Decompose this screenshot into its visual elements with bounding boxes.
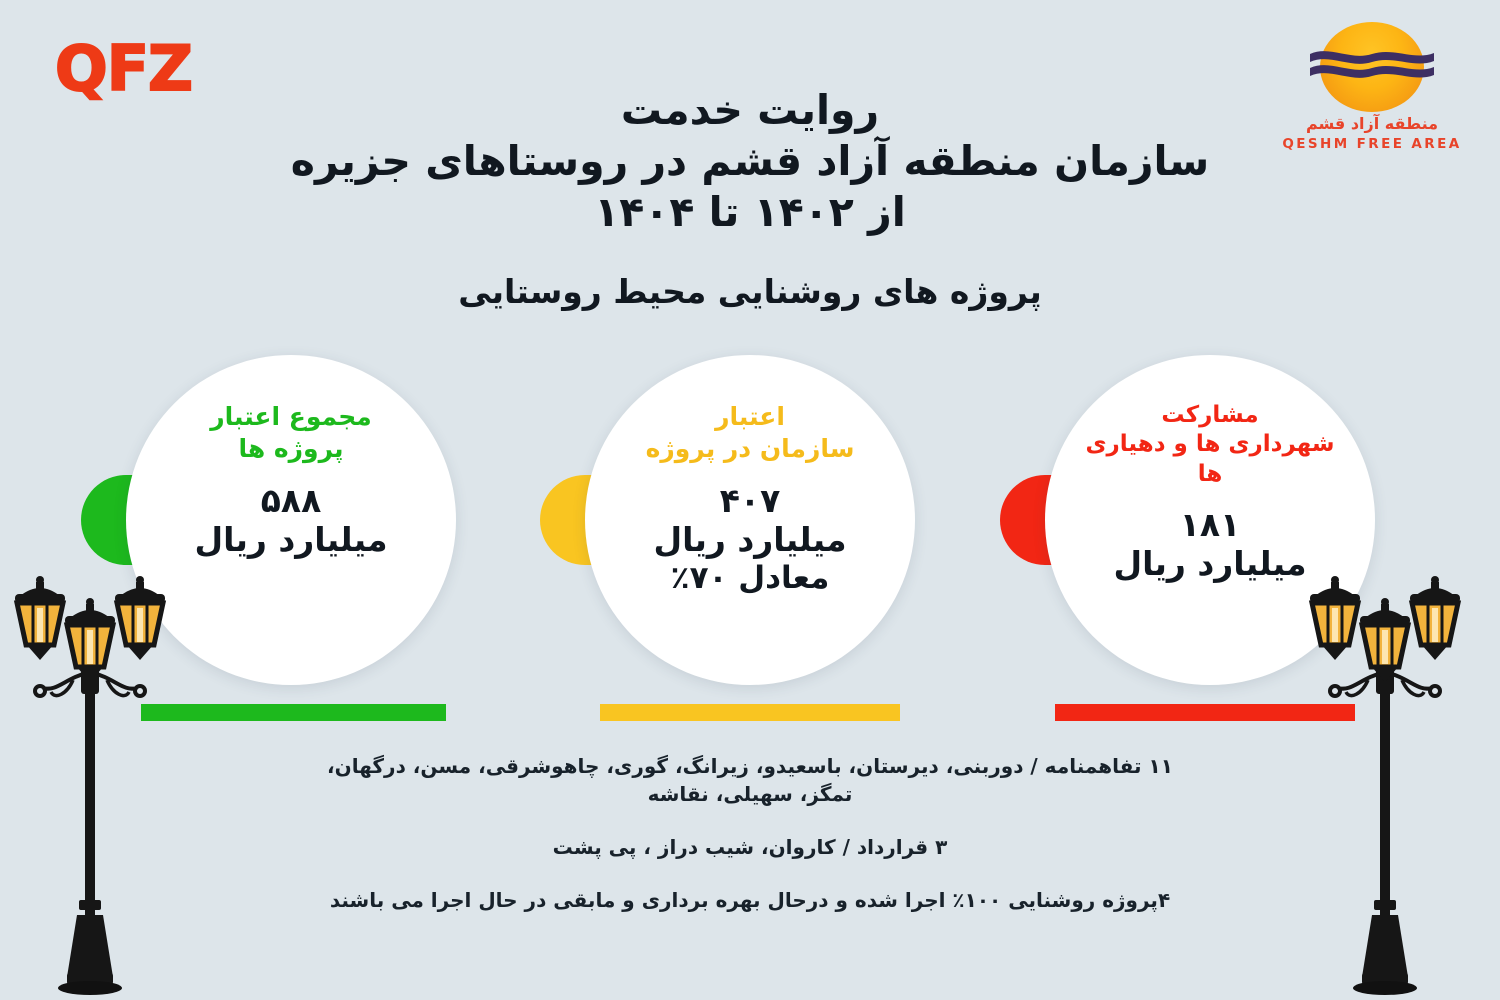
stat-value: ۴۰۷ [720, 481, 780, 520]
stat-extra: معادل ۷۰٪ [671, 560, 830, 597]
footnote-status: ۴پروژه روشنایی ۱۰۰٪ اجرا شده و درحال بهر… [150, 886, 1350, 914]
stat-bar-yellow [600, 704, 900, 721]
logo-english-name: QESHM FREE AREA [1282, 136, 1462, 152]
footnote-mou: ۱۱ تفاهمنامه / دوربنی، دیرستان، باسعیدو،… [150, 752, 1350, 809]
logo-farsi-name: منطقه آزاد قشم [1282, 114, 1462, 133]
qfz-wordmark: QFZ [55, 32, 192, 105]
page-title: روایت خدمت سازمان منطقه آزاد قشم در روست… [200, 85, 1300, 237]
stat-label-line-2: سازمان در پروژه [615, 433, 885, 465]
stat-label-line-1: مجموع اعتبار [156, 401, 426, 433]
stat-value: ۱۸۱ [1180, 505, 1240, 544]
stat-label-line-2: شهرداری ها و دهیاری ها [1075, 430, 1345, 489]
street-lamp-icon-left [0, 560, 185, 1000]
title-line-2: سازمان منطقه آزاد قشم در روستاهای جزیره [200, 136, 1300, 187]
footnote-mou-line-2: تمگز، سهیلی، نقاشه [150, 780, 1350, 808]
stat-unit: میلیارد ریال [1113, 544, 1306, 584]
title-line-3: از ۱۴۰۲ تا ۱۴۰۴ [200, 187, 1300, 238]
street-lamp-icon-right [1290, 560, 1480, 1000]
stat-label-line-1: اعتبار [615, 401, 885, 433]
footnote-mou-line-1: ۱۱ تفاهمنامه / دوربنی، دیرستان، باسعیدو،… [150, 752, 1350, 780]
page-subtitle: پروژه های روشنایی محیط روستایی [200, 272, 1300, 311]
footnote-contracts: ۳ قرارداد / کاروان، شیب دراز ، پی پشت [150, 833, 1350, 861]
stat-value: ۵۸۸ [261, 481, 321, 520]
footnotes: ۱۱ تفاهمنامه / دوربنی، دیرستان، باسعیدو،… [150, 752, 1350, 915]
waves-icon [1308, 46, 1436, 88]
title-line-1: روایت خدمت [200, 85, 1300, 136]
stat-label: مشارکت شهرداری ها و دهیاری ها [1075, 401, 1345, 489]
stat-label: اعتبار سازمان در پروژه [615, 401, 885, 465]
stat-label-line-2: پروژه ها [156, 433, 426, 465]
stat-unit: میلیارد ریال [194, 520, 387, 560]
stat-label-line-1: مشارکت [1075, 401, 1345, 430]
stat-label: مجموع اعتبار پروژه ها [156, 401, 426, 465]
qeshm-free-area-logo: منطقه آزاد قشم QESHM FREE AREA [1282, 18, 1462, 158]
stat-bar-green [141, 704, 446, 721]
stat-card-organization-credit: اعتبار سازمان در پروژه ۴۰۷ میلیارد ریال … [585, 355, 915, 685]
stat-bubble: اعتبار سازمان در پروژه ۴۰۷ میلیارد ریال … [585, 355, 915, 685]
infographic-canvas: QFZ منطقه آزاد قشم QESHM FREE AREA روایت… [0, 0, 1500, 1000]
stat-unit: میلیارد ریال [653, 520, 846, 560]
